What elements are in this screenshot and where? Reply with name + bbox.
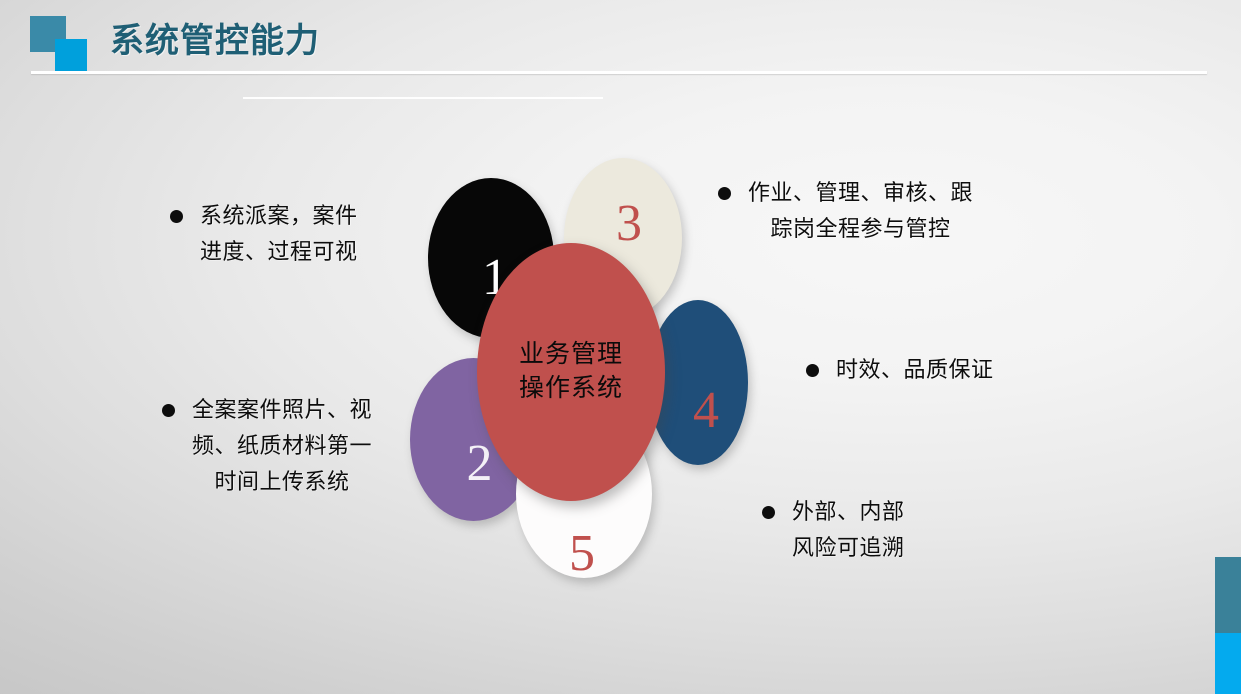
bullet-right-2: 时效、品质保证 xyxy=(806,352,1056,388)
bullet-left-2-text: 全案案件照片、视 频、纸质材料第一 时间上传系统 xyxy=(192,392,372,500)
bullet-dot-icon xyxy=(170,210,183,223)
bullet-dot-icon xyxy=(162,404,175,417)
bullet-left-1: 系统派案，案件 进度、过程可视 xyxy=(170,198,410,270)
petal-2-number: 2 xyxy=(467,438,493,490)
petal-diagram: 1 3 2 4 5 业务管理 操作系统 xyxy=(0,0,1241,694)
petal-4-number: 4 xyxy=(693,385,719,437)
center-label-line1: 业务管理 xyxy=(519,338,623,372)
bullet-dot-icon xyxy=(718,187,731,200)
bullet-right-1: 作业、管理、审核、跟 踪岗全程参与管控 xyxy=(718,175,1048,247)
center-label-line2: 操作系统 xyxy=(519,372,623,406)
diagram-center-node[interactable]: 业务管理 操作系统 xyxy=(477,243,665,501)
petal-5-number: 5 xyxy=(569,528,595,580)
bullet-left-1-text: 系统派案，案件 进度、过程可视 xyxy=(200,198,358,270)
bullet-dot-icon xyxy=(806,364,819,377)
petal-3-number: 3 xyxy=(616,198,642,250)
slide-canvas: 系统管控能力 1 3 2 4 5 业务管理 操作系统 系统派案，案件 进度、过程… xyxy=(0,0,1241,694)
bullet-right-2-text: 时效、品质保证 xyxy=(836,352,994,388)
bullet-right-1-text: 作业、管理、审核、跟 踪岗全程参与管控 xyxy=(748,175,973,247)
bullet-dot-icon xyxy=(762,506,775,519)
bullet-right-3-text: 外部、内部 风险可追溯 xyxy=(792,494,905,566)
bullet-left-2: 全案案件照片、视 频、纸质材料第一 时间上传系统 xyxy=(162,392,412,500)
bullet-right-3: 外部、内部 风险可追溯 xyxy=(762,494,992,566)
